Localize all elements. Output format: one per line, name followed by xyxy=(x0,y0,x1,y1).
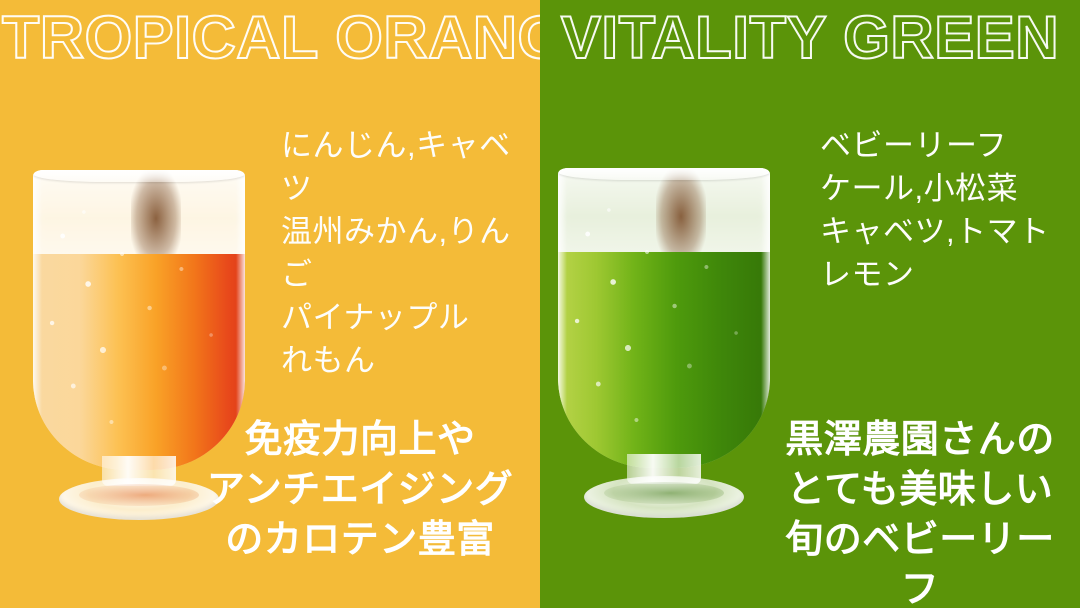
panel-title-vitality-green: VITALITY GREEN xyxy=(540,8,1080,68)
glass-rim xyxy=(558,168,770,180)
benefit-caption-vitality-green: 黒澤農園さんの とても美味しい 旬のベビーリーフ xyxy=(770,415,1070,608)
ingredients-list-vitality-green: ベビーリーフ ケール,小松菜 キャベツ,トマト レモン xyxy=(820,124,1050,296)
glass-body xyxy=(558,168,770,468)
vitality-green-juice-glass xyxy=(558,168,770,520)
panel-title-tropical-orange: TROPICAL ORANGE xyxy=(0,8,540,68)
glass-left-edge-highlight xyxy=(33,170,42,470)
glass-right-edge-highlight xyxy=(761,168,770,468)
condensation-droplets xyxy=(558,168,770,468)
ingredients-list-tropical-orange: にんじん,キャベツ 温州みかん,りんご パイナップル れもん xyxy=(281,124,540,382)
glass-rim xyxy=(33,170,245,182)
panel-vitality-green: VITALITY GREEN ベビーリーフ ケール,小松菜 キャベツ,トマト レ… xyxy=(540,0,1080,608)
juice-comparison-banner: TROPICAL ORANGE にんじん,キャベツ 温州みかん,りんご パイナッ… xyxy=(0,0,1080,608)
glass-left-edge-highlight xyxy=(558,168,567,468)
benefit-caption-tropical-orange: 免疫力向上や アンチエイジング のカロテン豊富 xyxy=(195,415,525,565)
panel-tropical-orange: TROPICAL ORANGE にんじん,キャベツ 温州みかん,りんご パイナッ… xyxy=(0,0,540,608)
glass-foot-juice-tint xyxy=(604,482,724,504)
glass-foot-juice-tint xyxy=(79,484,199,506)
